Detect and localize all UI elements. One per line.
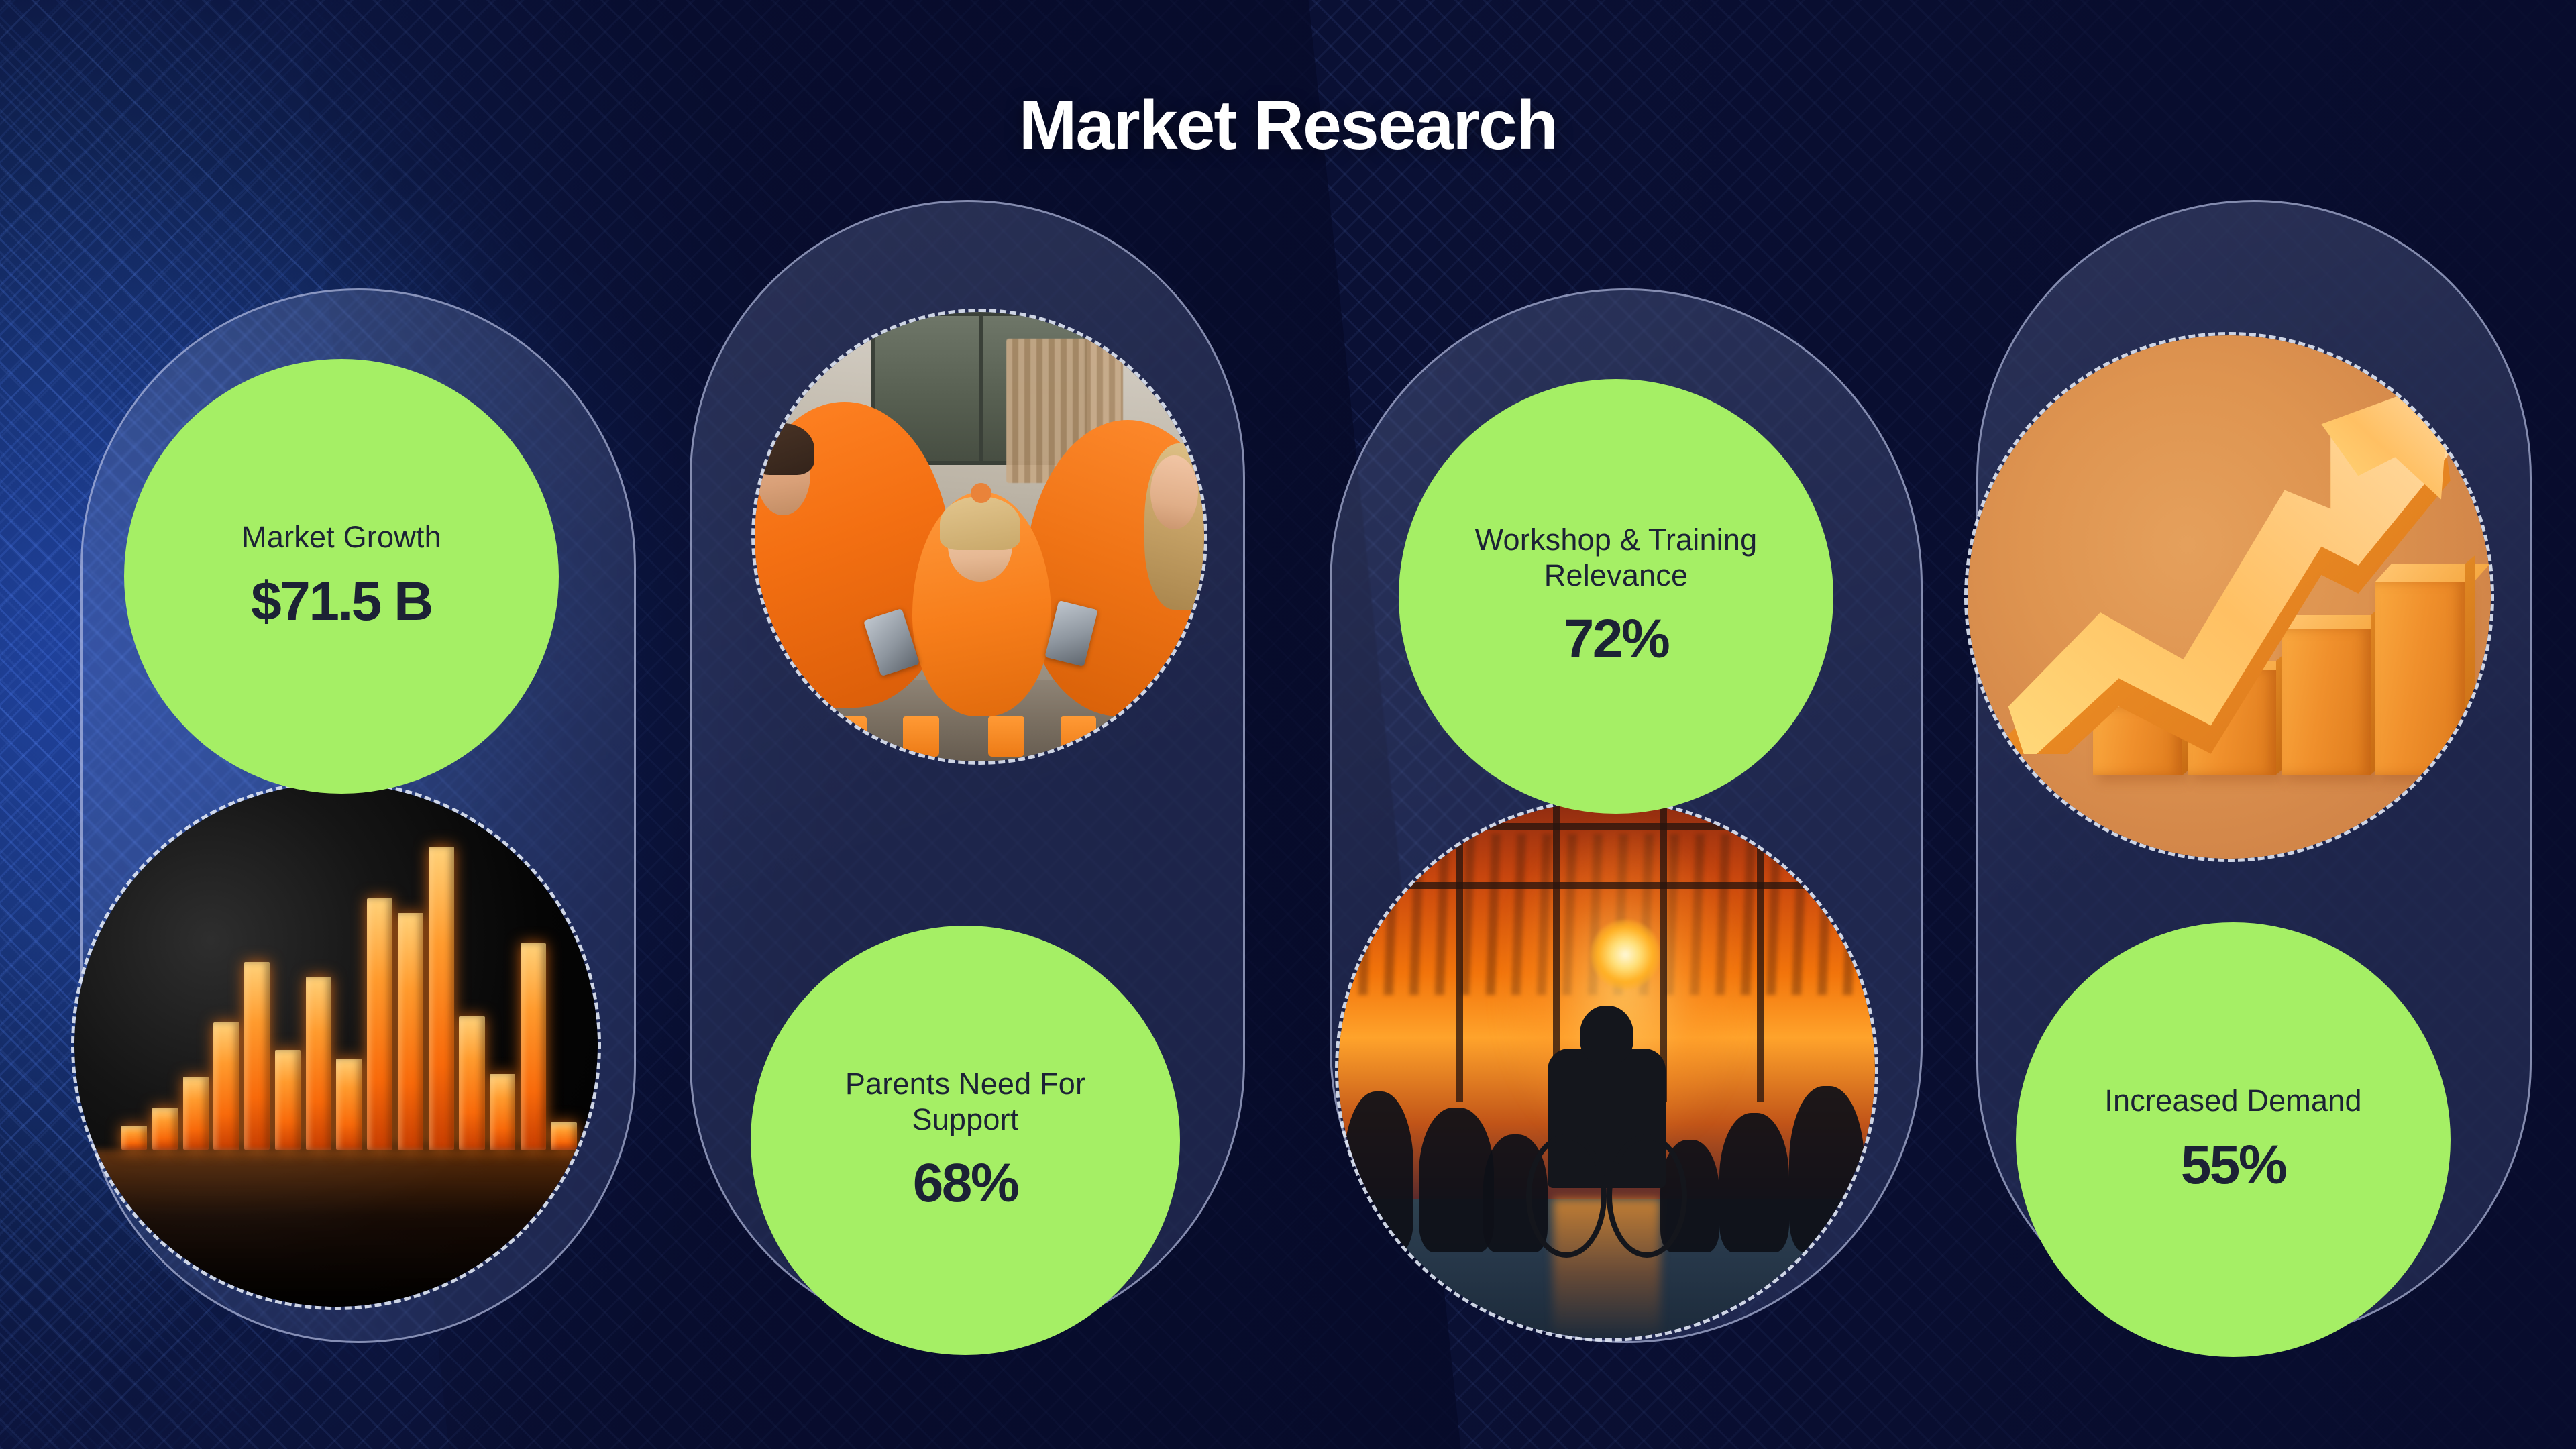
stat-circle-parents-need-for-support: Parents Need For Support 68% [751, 926, 1180, 1355]
stat-value: 55% [2181, 1134, 2286, 1197]
wheelchair-audience-sunset-image [1335, 798, 1878, 1342]
growth-arrow-3d-image [1964, 332, 2494, 862]
stat-value: 72% [1564, 608, 1669, 671]
stat-label: Parents Need For Support [751, 1066, 1180, 1137]
stat-value: 68% [913, 1152, 1018, 1215]
stat-label: Market Growth [212, 519, 471, 555]
stat-label: Increased Demand [2075, 1083, 2391, 1118]
stat-value: $71.5 B [251, 570, 432, 633]
upward-arrow-icon [1999, 377, 2459, 754]
stat-circle-market-growth: Market Growth $71.5 B [124, 359, 559, 794]
bar-chart-3d-image [71, 780, 601, 1310]
slide-canvas: Market Research Market Growth $71.5 B [0, 0, 2576, 1449]
page-title: Market Research [0, 86, 2576, 166]
family-with-phones-image [751, 309, 1207, 765]
stat-circle-increased-demand: Increased Demand 55% [2016, 922, 2451, 1357]
stat-label: Workshop & Training Relevance [1399, 522, 1833, 593]
stat-circle-workshop-training-relevance: Workshop & Training Relevance 72% [1399, 379, 1833, 814]
